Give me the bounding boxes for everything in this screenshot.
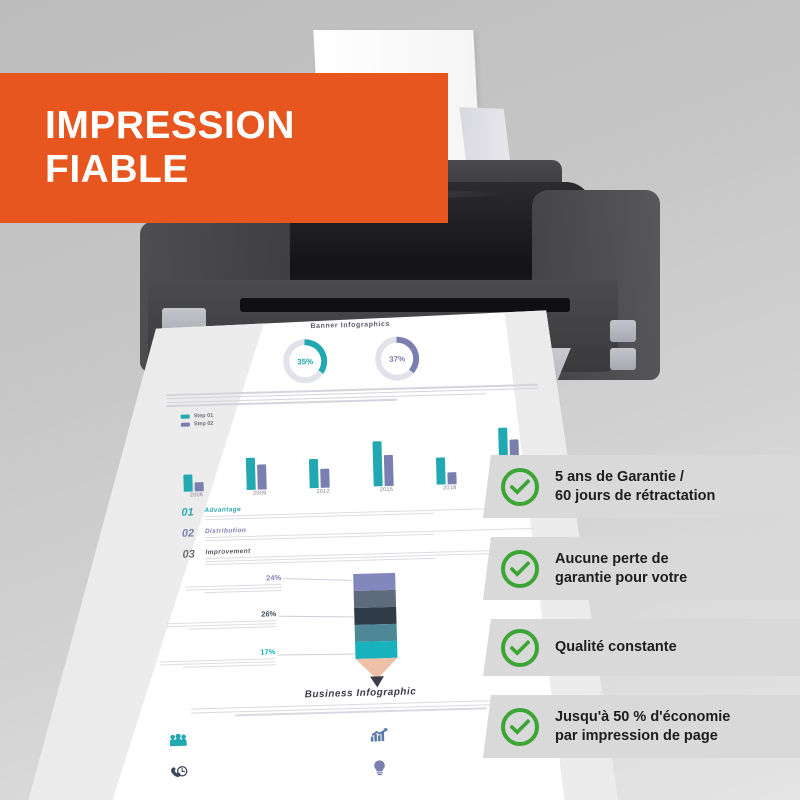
bar-step-02-2018: [447, 472, 456, 485]
x-tick-2006: 2006: [179, 492, 213, 499]
legend-label-step-01: Step 01: [194, 413, 214, 420]
check-circle-icon: [501, 468, 539, 506]
funnel-leader-2: [278, 616, 354, 618]
donut-value-2: 37%: [375, 336, 420, 381]
donut-value-1: 35%: [283, 339, 328, 384]
bar-step-01-2018: [436, 457, 446, 485]
donut-chart-1: 35%: [283, 339, 328, 384]
bar-group-2012: [304, 425, 340, 488]
icon-feature-people: [168, 729, 355, 750]
bar-step-01-2009: [246, 457, 256, 489]
feature-card-text-2: Aucune perte de garantie pour votre: [555, 550, 687, 587]
printer-button-right-2: [610, 348, 636, 370]
pencil-band-1: [353, 573, 395, 591]
x-tick-2018: 2018: [433, 485, 467, 492]
funnel-callout-2: 26%: [166, 609, 277, 632]
bar-step-01-2006: [183, 474, 192, 492]
feature-card-no-loss[interactable]: Aucune perte de garantie pour votre: [483, 537, 800, 600]
pencil-band-5: [355, 641, 397, 659]
bar-step-01-2012: [309, 459, 319, 488]
funnel-callout-1: 24%: [185, 573, 282, 596]
feature-card-list: 5 ans de Garantie / 60 jours de rétracta…: [483, 455, 800, 777]
icon-feature-clock: [168, 761, 355, 784]
step-number-01: 01: [181, 507, 197, 518]
step-number-02: 02: [182, 528, 198, 539]
step-item-01: 01 Advantage: [181, 498, 533, 523]
printer-output-slot: [240, 298, 570, 312]
bar-step-02-2015: [383, 455, 393, 486]
funnel-value-1: 24%: [185, 573, 281, 585]
printer-button-right-1: [610, 320, 636, 342]
headline-line-1: IMPRESSION: [45, 104, 448, 148]
funnel-leader-1: [283, 578, 351, 581]
promo-image: Banner Infographics 35% 37% Step 01: [0, 0, 800, 800]
bar-group-2015: [368, 424, 404, 487]
check-circle-icon: [501, 550, 539, 588]
feature-card-text-4: Jusqu'à 50 % d'économie par impression d…: [555, 708, 730, 745]
growth-chart-icon: [368, 728, 388, 745]
funnel-leader-3: [277, 653, 355, 655]
funnel-callout-3: 17%: [159, 647, 276, 670]
pencil-band-2: [354, 590, 396, 608]
step-item-03: 03 Improvement: [182, 540, 534, 568]
feature-card-text-3: Qualité constante: [555, 638, 677, 657]
check-circle-icon: [501, 708, 539, 746]
step-item-02: 02 Distribution: [182, 519, 534, 544]
funnel-value-3: 17%: [159, 647, 275, 659]
feature-card-savings[interactable]: Jusqu'à 50 % d'économie par impression d…: [483, 695, 800, 758]
bar-step-01-2015: [372, 441, 382, 486]
pencil-band-4: [355, 624, 397, 642]
headline-banner: IMPRESSION FIABLE: [0, 73, 448, 223]
feature-card-warranty[interactable]: 5 ans de Garantie / 60 jours de rétracta…: [483, 455, 800, 518]
x-tick-2012: 2012: [306, 488, 340, 495]
donut-chart-group: 35% 37%: [151, 332, 552, 387]
pencil-band-3: [354, 607, 396, 625]
feature-card-text-1: 5 ans de Garantie / 60 jours de rétracta…: [555, 468, 715, 505]
x-tick-2009: 2009: [243, 490, 277, 497]
step-number-03: 03: [182, 549, 198, 560]
bar-group-2009: [241, 427, 277, 490]
infographic-paragraph: [166, 384, 538, 407]
pencil-lead: [370, 676, 384, 687]
check-circle-icon: [501, 629, 539, 667]
legend-label-step-02: Step 02: [194, 421, 214, 428]
bar-step-02-2006: [194, 482, 203, 491]
people-icon: [168, 734, 188, 751]
feature-card-quality[interactable]: Qualité constante: [483, 619, 800, 676]
donut-chart-2: 37%: [375, 336, 420, 381]
x-tick-2015: 2015: [369, 487, 403, 494]
pencil-graphic: [353, 573, 398, 680]
funnel-value-2: 26%: [166, 609, 276, 621]
clock-phone-icon: [168, 766, 188, 784]
headline-line-2: FIABLE: [45, 148, 448, 192]
bar-group-2018: [431, 422, 467, 485]
bar-group-2006: [178, 429, 214, 492]
lightbulb-icon: [369, 760, 389, 779]
numbered-steps-list: 01 Advantage 02 Distribution 03 Improvem…: [181, 498, 535, 568]
bar-step-02-2012: [321, 469, 331, 488]
bar-step-02-2009: [257, 465, 267, 490]
